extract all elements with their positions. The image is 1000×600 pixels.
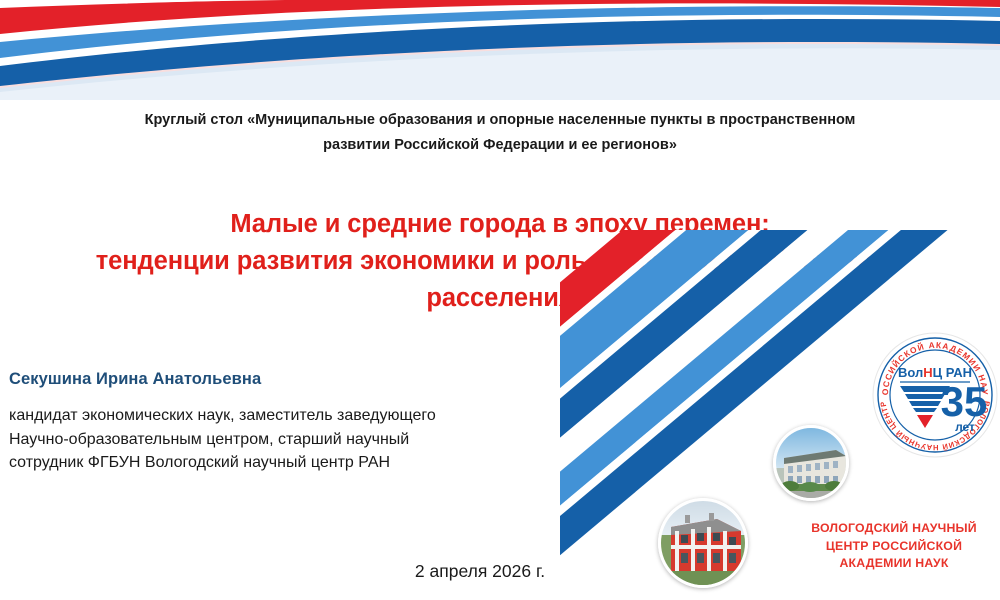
- emblem-anniversary-number: 35: [941, 378, 988, 425]
- ribbon-band-dark-blue: [0, 19, 1000, 86]
- building-photo-upper: [773, 425, 849, 501]
- ribbon-band-pale-blue-lower: [0, 34, 1000, 100]
- author-affiliation-line-1: кандидат экономических наук, заместитель…: [9, 404, 529, 428]
- building-photo-lower: [658, 498, 748, 588]
- organization-caption-line-1: ВОЛОГОДСКИЙ НАУЧНЫЙ: [788, 520, 1000, 538]
- event-title-line-2: развитии Российской Федерации и ее регио…: [100, 133, 900, 158]
- author-affiliation: кандидат экономических наук, заместитель…: [9, 404, 529, 475]
- anniversary-emblem: РОССИЙСКОЙ АКАДЕМИИ НАУК ВОЛОГОДСКИЙ НАУ…: [872, 332, 998, 458]
- ribbon-band-white-top: [0, 0, 1000, 6]
- ribbon-band-white-sep-1: [0, 12, 1000, 64]
- event-title-line-1: Круглый стол «Муниципальные образования …: [100, 108, 900, 133]
- author-affiliation-line-2: Научно-образовательным центром, старший …: [9, 428, 529, 452]
- ribbon-band-pale-pink: [0, 29, 1000, 88]
- event-title: Круглый стол «Муниципальные образования …: [100, 108, 900, 158]
- organization-caption: ВОЛОГОДСКИЙ НАУЧНЫЙ ЦЕНТР РОССИЙСКОЙ АКА…: [788, 520, 1000, 573]
- emblem-anniversary-word: лет: [955, 420, 975, 434]
- header-ribbon-decoration: [0, 0, 1000, 100]
- ribbon-band-white-sep-2: [0, 2, 1000, 42]
- organization-caption-line-2: ЦЕНТР РОССИЙСКОЙ: [788, 538, 1000, 556]
- presentation-slide: Круглый стол «Муниципальные образования …: [0, 0, 1000, 600]
- ribbon-band-red: [0, 0, 1000, 34]
- organization-caption-line-3: АКАДЕМИИ НАУК: [788, 555, 1000, 573]
- author-affiliation-line-3: сотрудник ФГБУН Вологодский научный цент…: [9, 451, 529, 475]
- author-name: Секушина Ирина Анатольевна: [9, 370, 261, 389]
- ribbon-band-light-blue: [0, 6, 1000, 58]
